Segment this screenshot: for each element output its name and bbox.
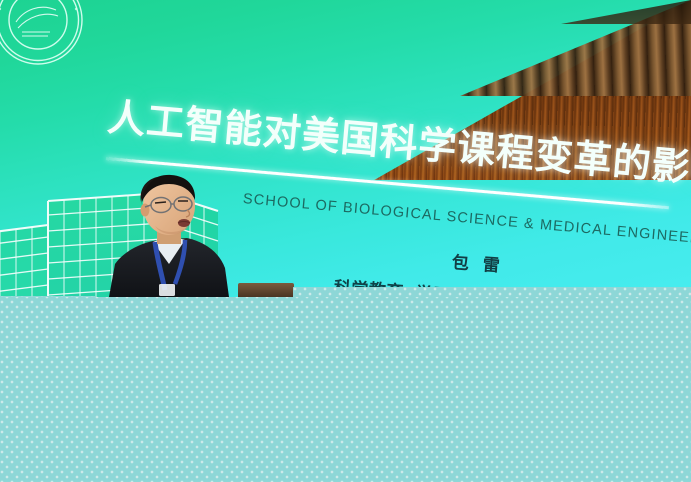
screenshot-canvas: 人工智能对美国科学课程变革的影响 SCHOOL OF BIOLOGICAL SC… (0, 0, 691, 482)
speaker-figure (95, 172, 305, 297)
photo-crop-strip-far-left (0, 296, 96, 297)
photo-crop-strip-right (293, 287, 691, 297)
lectern-edge (238, 283, 294, 297)
presentation-photo: 人工智能对美国科学课程变革的影响 SCHOOL OF BIOLOGICAL SC… (0, 0, 691, 297)
university-seal-emblem (0, 0, 88, 70)
